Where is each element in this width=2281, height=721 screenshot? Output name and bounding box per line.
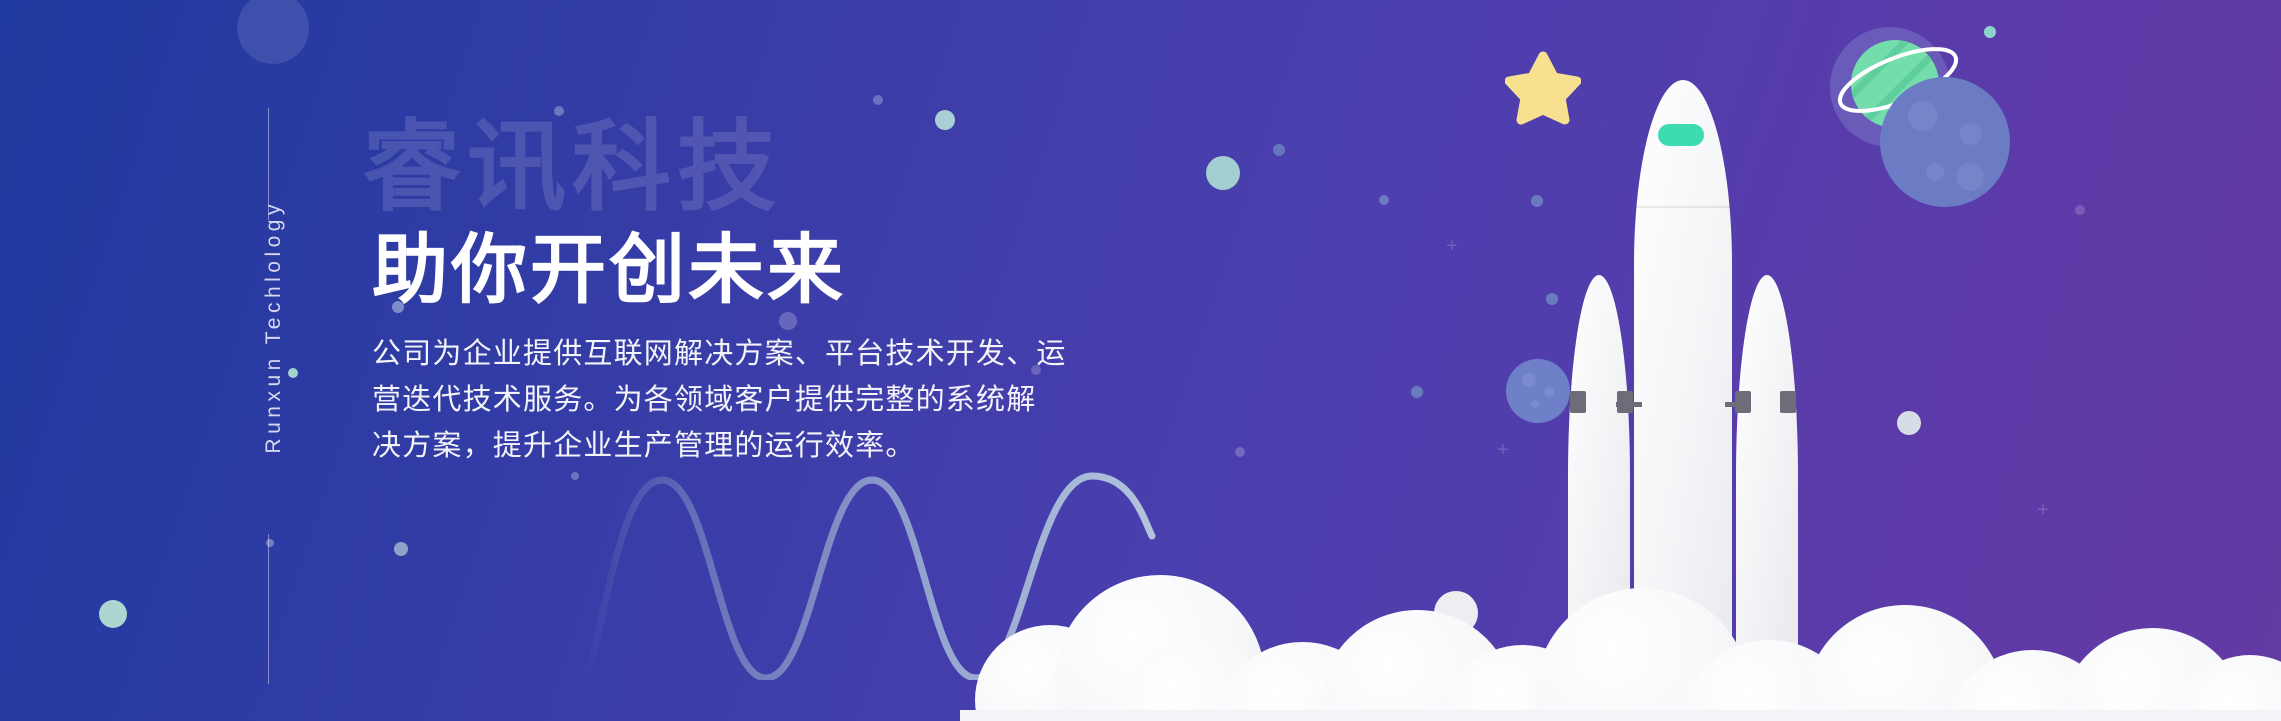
star-dot bbox=[1273, 144, 1285, 156]
sparkle-cross-icon: + bbox=[2037, 500, 2049, 520]
hero-banner: +++ Runxun Techlology 睿讯科技 助你开创未来 公司为企业提… bbox=[0, 0, 2281, 721]
star-dot bbox=[394, 542, 408, 556]
rocket-clamp-4 bbox=[1780, 391, 1796, 413]
page-title: 助你开创未来 bbox=[372, 208, 846, 318]
star-dot bbox=[2075, 205, 2085, 215]
cloud-bank bbox=[960, 550, 2281, 721]
vertical-brand-label: Runxun Techlology bbox=[262, 200, 286, 454]
star-dot bbox=[1897, 411, 1921, 435]
rocket-clamp-3 bbox=[1735, 391, 1751, 413]
star-dot bbox=[288, 368, 298, 378]
star-dot bbox=[99, 600, 127, 628]
rocket-clamp-2 bbox=[1617, 391, 1633, 413]
rocket-clamp-1 bbox=[1570, 391, 1586, 413]
description-line-1: 公司为企业提供互联网解决方案、平台技术开发、运 bbox=[372, 330, 1162, 376]
rocket-window-icon bbox=[1658, 124, 1704, 146]
star-dot bbox=[873, 95, 883, 105]
brand-divider-bottom bbox=[268, 534, 269, 684]
rocket-body-seam bbox=[1636, 206, 1730, 208]
star-dot bbox=[935, 110, 955, 130]
description-line-2: 营迭代技术服务。为各领域客户提供完整的系统解 bbox=[372, 376, 1162, 422]
cloud-base-fill bbox=[960, 710, 2281, 721]
blue-moon-icon bbox=[1875, 72, 2015, 212]
star-dot bbox=[571, 472, 579, 480]
star-dot bbox=[237, 0, 309, 64]
star-dot bbox=[1206, 156, 1240, 190]
